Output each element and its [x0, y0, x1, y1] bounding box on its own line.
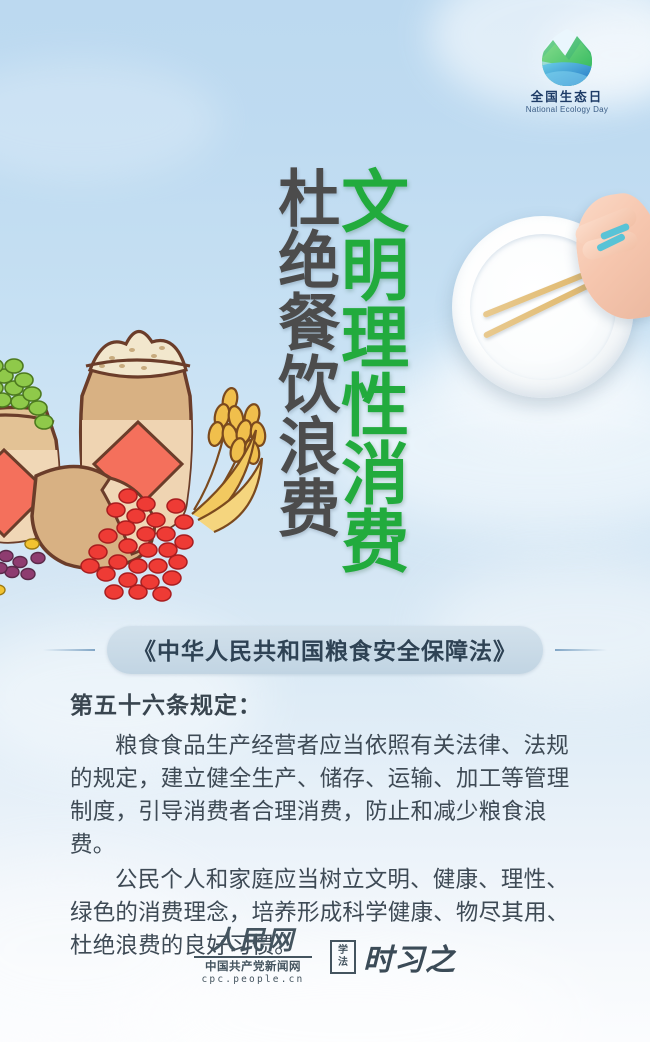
article-heading: 第五十六条规定：: [70, 686, 582, 720]
article-body: 第五十六条规定： 粮食食品生产经营者应当依照有关法律、法规的规定，建立健全生产、…: [70, 686, 582, 965]
xuefa-shixizhi-logo: 学 法 时习之: [330, 935, 456, 979]
plate-and-chopsticks-illustration: [448, 196, 648, 396]
logo-name-en: National Ecology Day: [512, 106, 622, 115]
people-cn-logo: 人民网 中国共产党新闻网 cpc.people.cn: [194, 928, 312, 987]
people-cn-script: 人民网: [211, 928, 295, 954]
mountain-water-emblem-icon: [535, 26, 599, 90]
cloud-decoration: [0, 60, 220, 180]
shixizhi-title: 时习之: [363, 935, 456, 979]
poster-root: 全国生态日 National Ecology Day: [0, 0, 650, 1042]
page-title: 杜绝餐饮浪费 文明理性消费: [272, 166, 403, 574]
banner-rule-right: [555, 649, 607, 651]
xuefa-badge: 学 法: [330, 940, 356, 974]
headline-green-column: 文明理性消费: [333, 166, 402, 574]
xuefa-char-2: 法: [338, 957, 348, 969]
people-cn-subtitle: 中国共产党新闻网: [205, 960, 301, 974]
footer: 人民网 中国共产党新闻网 cpc.people.cn 学 法 时习之: [0, 928, 650, 987]
headline-dark-column: 杜绝餐饮浪费: [272, 166, 335, 538]
divider: [194, 956, 312, 958]
law-title-banner: 《中华人民共和国粮食安全保障法》: [0, 626, 650, 674]
law-title-pill: 《中华人民共和国粮食安全保障法》: [107, 626, 543, 674]
people-cn-url: cpc.people.cn: [202, 974, 305, 986]
grain-sacks-illustration: [0, 300, 286, 610]
xuefa-char-1: 学: [338, 945, 348, 957]
logo-name-cn: 全国生态日: [512, 91, 622, 105]
article-paragraph-1: 粮食食品生产经营者应当依照有关法律、法规的规定，建立健全生产、储存、运输、加工等…: [70, 730, 582, 862]
national-ecology-day-logo: 全国生态日 National Ecology Day: [512, 26, 622, 115]
banner-rule-left: [43, 649, 95, 651]
